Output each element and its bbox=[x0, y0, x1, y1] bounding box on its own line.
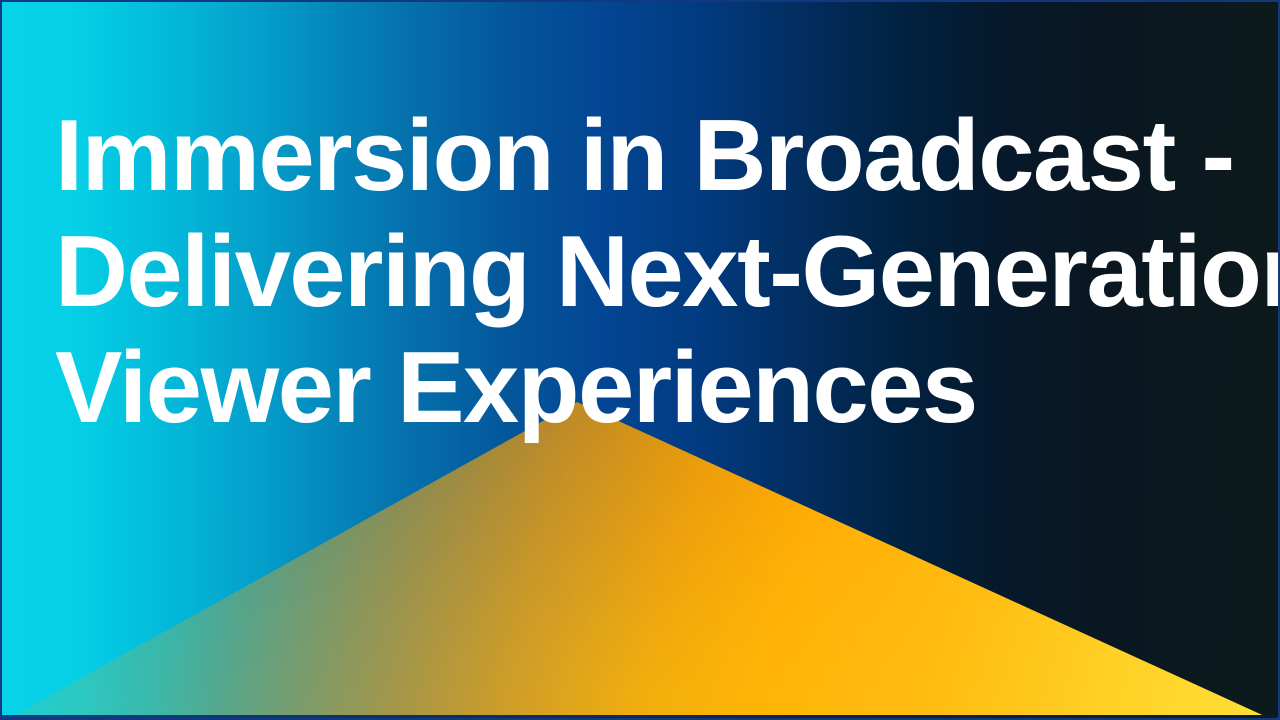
title-slide: Immersion in Broadcast - Delivering Next… bbox=[0, 0, 1280, 720]
title-line-2: Delivering Next-Generation bbox=[55, 214, 1255, 330]
title-line-1: Immersion in Broadcast - bbox=[55, 98, 1255, 214]
page-title: Immersion in Broadcast - Delivering Next… bbox=[55, 98, 1255, 446]
bottom-rule bbox=[2, 715, 1278, 718]
title-line-3: Viewer Experiences bbox=[55, 330, 1255, 446]
